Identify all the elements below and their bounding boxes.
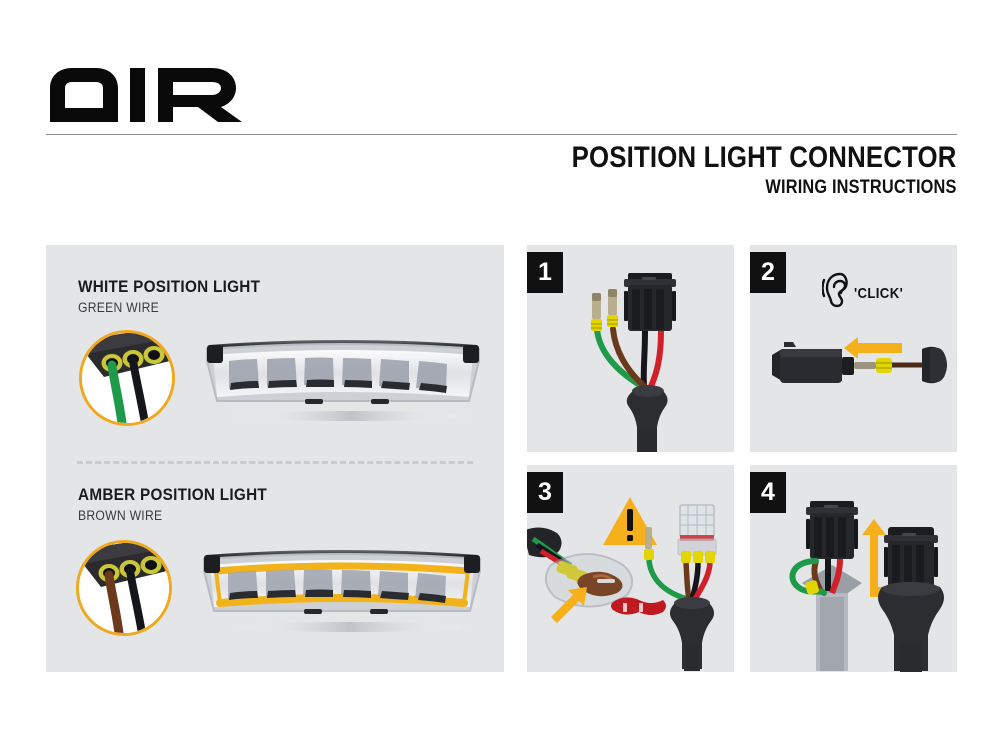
amber-position-light-labels: AMBER POSITION LIGHT BROWN WIRE (78, 485, 288, 523)
title-main: POSITION LIGHT CONNECTOR (572, 142, 957, 174)
amber-led-light-bar (198, 541, 486, 637)
step-4-number: 4 (761, 480, 775, 505)
step-4-badge: 4 (750, 472, 786, 513)
instruction-sheet: POSITION LIGHT CONNECTOR WIRING INSTRUCT… (0, 0, 1000, 750)
step-2-panel: 'CLICK' 2 (750, 245, 957, 452)
step-1-number: 1 (538, 260, 552, 285)
header-divider (46, 134, 957, 135)
white-position-connector-closeup (79, 330, 175, 426)
title-subtitle: WIRING INSTRUCTIONS (572, 176, 957, 200)
click-label: 'CLICK' (854, 285, 903, 302)
amber-section-title: AMBER POSITION LIGHT (78, 485, 267, 505)
page-title: POSITION LIGHT CONNECTOR WIRING INSTRUCT… (509, 142, 957, 200)
step-1-badge: 1 (527, 252, 563, 293)
step-2-badge: 2 (750, 252, 786, 293)
position-light-reference-panel: WHITE POSITION LIGHT GREEN WIRE (46, 245, 504, 672)
air-logo (46, 66, 266, 124)
step-4-panel: 4 (750, 465, 957, 672)
amber-section-wire: BROWN WIRE (78, 508, 267, 523)
step-3-badge: 3 (527, 472, 563, 513)
step-3-number: 3 (538, 480, 552, 505)
section-divider (77, 461, 473, 464)
white-led-light-bar (201, 331, 485, 427)
white-section-wire: GREEN WIRE (78, 300, 260, 315)
step-1-panel: 1 (527, 245, 734, 452)
step-2-number: 2 (761, 260, 775, 285)
step-3-panel: 3 (527, 465, 734, 672)
white-position-light-labels: WHITE POSITION LIGHT GREEN WIRE (78, 277, 280, 315)
amber-position-connector-closeup (76, 540, 172, 636)
white-section-title: WHITE POSITION LIGHT (78, 277, 260, 297)
